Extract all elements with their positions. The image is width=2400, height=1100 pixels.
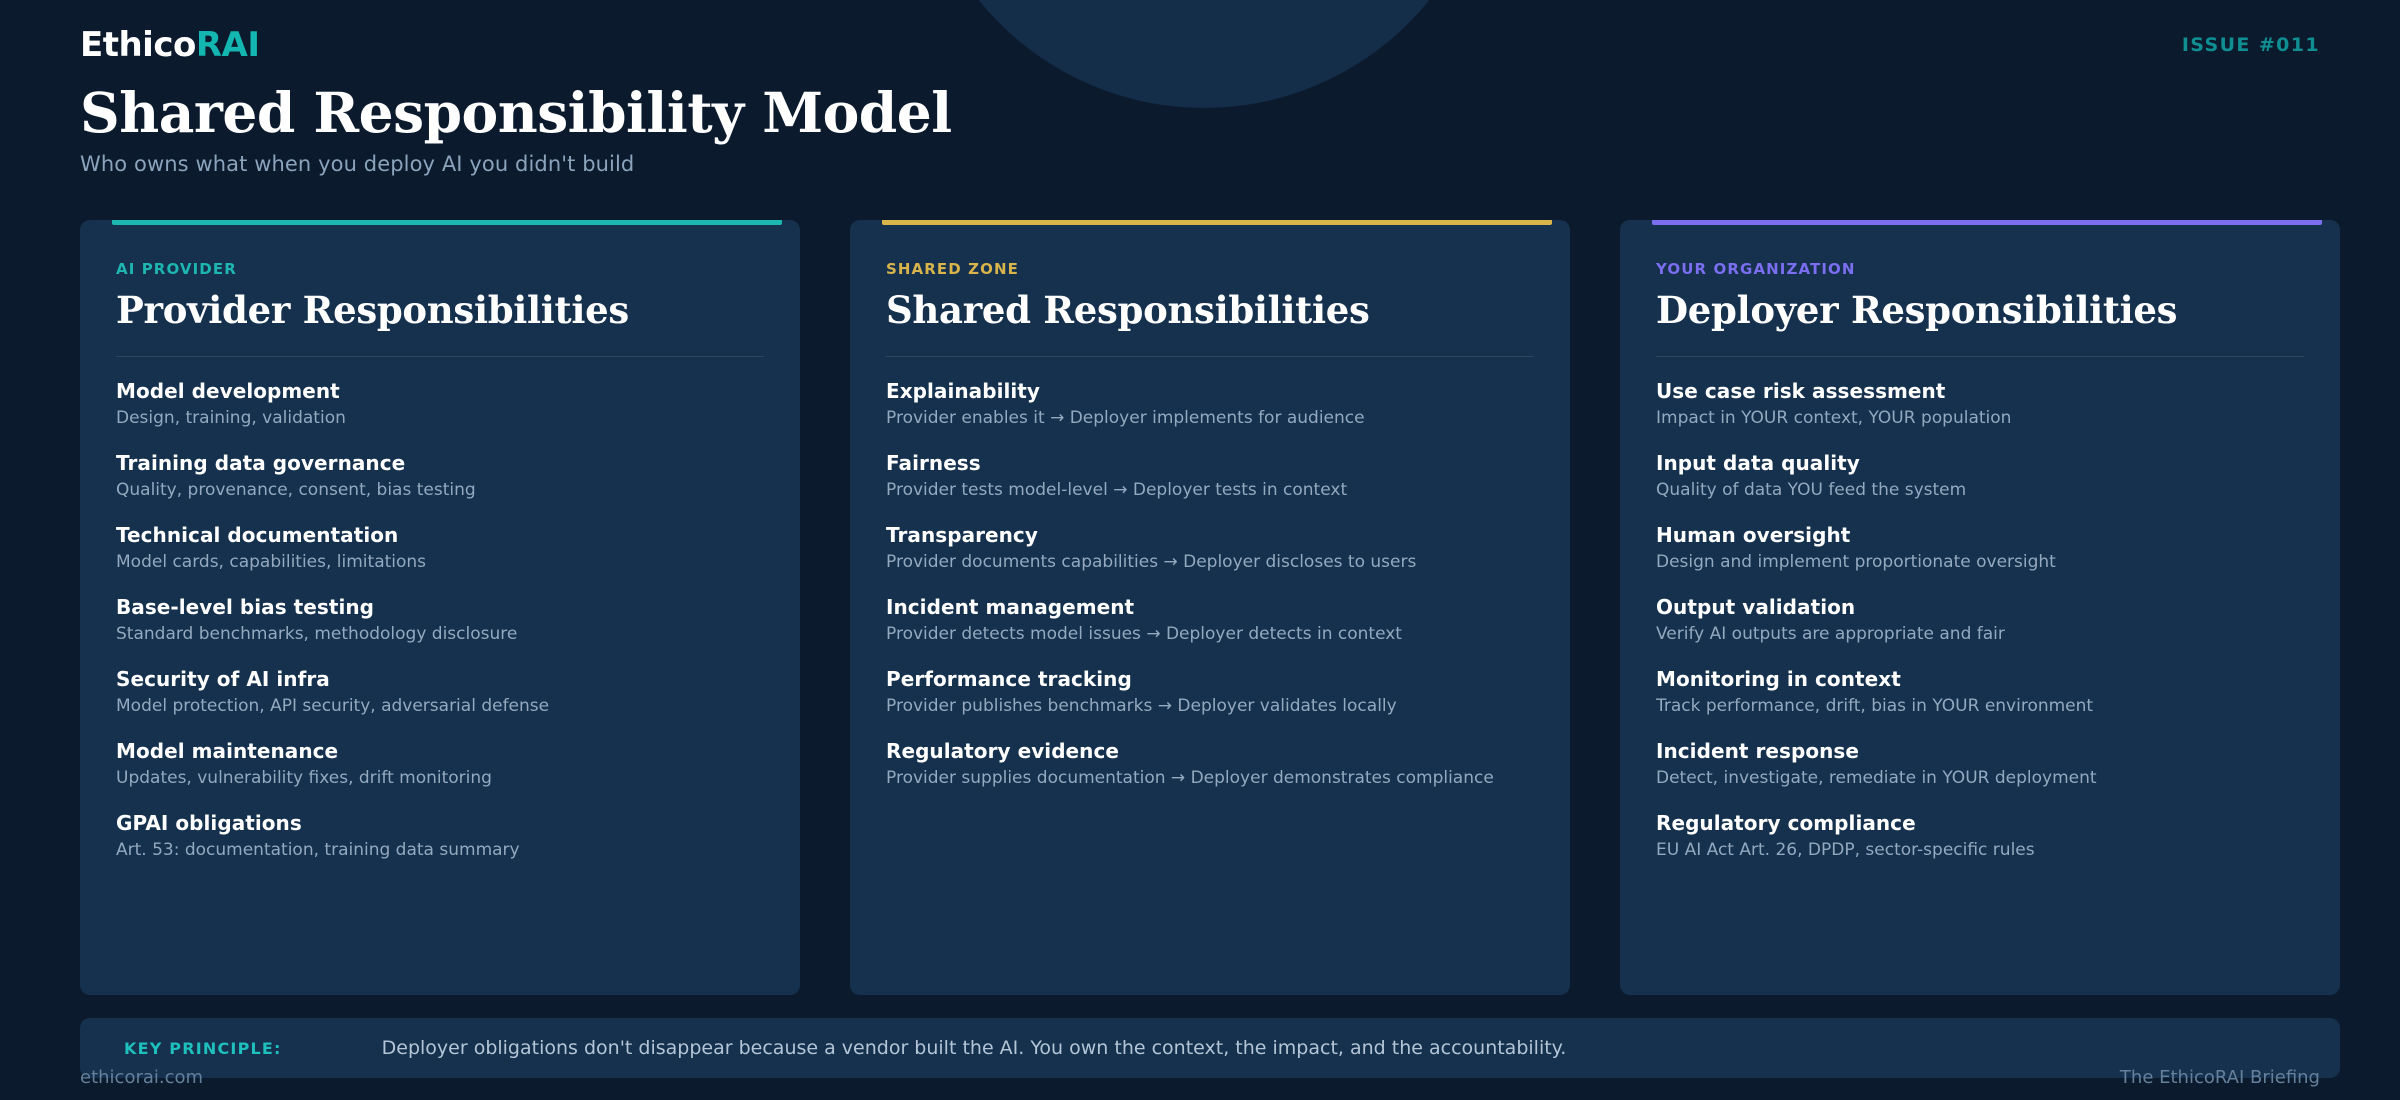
key-principle-label: KEY PRINCIPLE: xyxy=(124,1039,282,1058)
responsibility-item-desc: Impact in YOUR context, YOUR population xyxy=(1656,407,2304,429)
responsibility-card: SHARED ZONEShared ResponsibilitiesExplai… xyxy=(850,220,1570,995)
page-header: EthicoRAI ISSUE #011 Shared Responsibili… xyxy=(80,28,2320,176)
responsibility-item: Model developmentDesign, training, valid… xyxy=(116,379,764,429)
card-kicker: YOUR ORGANIZATION xyxy=(1656,260,2304,278)
responsibility-item-title: Incident management xyxy=(886,595,1534,620)
responsibility-item: Regulatory evidenceProvider supplies doc… xyxy=(886,739,1534,789)
responsibility-item-desc: Model cards, capabilities, limitations xyxy=(116,551,764,573)
card-title: Shared Responsibilities xyxy=(886,290,1534,332)
brand-name-primary: Ethico xyxy=(80,25,196,65)
card-title: Deployer Responsibilities xyxy=(1656,290,2304,332)
responsibility-item-title: Model development xyxy=(116,379,764,404)
responsibility-item-title: Use case risk assessment xyxy=(1656,379,2304,404)
issue-number: ISSUE #011 xyxy=(2182,34,2320,56)
responsibility-item-desc: EU AI Act Art. 26, DPDP, sector-specific… xyxy=(1656,839,2304,861)
responsibility-item-title: Base-level bias testing xyxy=(116,595,764,620)
card-accent-bar xyxy=(882,220,1552,225)
responsibility-item: GPAI obligationsArt. 53: documentation, … xyxy=(116,811,764,861)
responsibility-item: Regulatory complianceEU AI Act Art. 26, … xyxy=(1656,811,2304,861)
responsibility-item: ExplainabilityProvider enables it → Depl… xyxy=(886,379,1534,429)
card-divider xyxy=(116,356,764,357)
card-accent-bar xyxy=(1652,220,2322,225)
responsibility-item: FairnessProvider tests model-level → Dep… xyxy=(886,451,1534,501)
responsibility-item: Model maintenanceUpdates, vulnerability … xyxy=(116,739,764,789)
responsibility-item: Performance trackingProvider publishes b… xyxy=(886,667,1534,717)
responsibility-item-title: Model maintenance xyxy=(116,739,764,764)
responsibility-item-title: Incident response xyxy=(1656,739,2304,764)
responsibility-item: Incident responseDetect, investigate, re… xyxy=(1656,739,2304,789)
page-subtitle: Who owns what when you deploy AI you did… xyxy=(80,152,2320,176)
key-principle-text: Deployer obligations don't disappear bec… xyxy=(382,1037,1567,1059)
responsibility-item-desc: Design, training, validation xyxy=(116,407,764,429)
responsibility-item-title: Transparency xyxy=(886,523,1534,548)
responsibility-item: Incident managementProvider detects mode… xyxy=(886,595,1534,645)
responsibility-item-title: Monitoring in context xyxy=(1656,667,2304,692)
responsibility-item-desc: Model protection, API security, adversar… xyxy=(116,695,764,717)
responsibility-item: Input data qualityQuality of data YOU fe… xyxy=(1656,451,2304,501)
responsibility-item-desc: Provider supplies documentation → Deploy… xyxy=(886,767,1534,789)
responsibility-item-desc: Track performance, drift, bias in YOUR e… xyxy=(1656,695,2304,717)
page-footer: ethicorai.com The EthicoRAI Briefing xyxy=(80,1067,2320,1088)
responsibility-item-title: Human oversight xyxy=(1656,523,2304,548)
responsibility-item-desc: Standard benchmarks, methodology disclos… xyxy=(116,623,764,645)
responsibility-item: Monitoring in contextTrack performance, … xyxy=(1656,667,2304,717)
responsibility-item-title: Explainability xyxy=(886,379,1534,404)
responsibility-cards: AI PROVIDERProvider ResponsibilitiesMode… xyxy=(80,220,2340,995)
responsibility-item: Technical documentationModel cards, capa… xyxy=(116,523,764,573)
responsibility-item-title: GPAI obligations xyxy=(116,811,764,836)
responsibility-item-desc: Updates, vulnerability fixes, drift moni… xyxy=(116,767,764,789)
responsibility-item: TransparencyProvider documents capabilit… xyxy=(886,523,1534,573)
responsibility-item: Human oversightDesign and implement prop… xyxy=(1656,523,2304,573)
responsibility-card: YOUR ORGANIZATIONDeployer Responsibiliti… xyxy=(1620,220,2340,995)
responsibility-item-desc: Provider documents capabilities → Deploy… xyxy=(886,551,1534,573)
brand-logo: EthicoRAI xyxy=(80,28,2320,62)
responsibility-item-desc: Art. 53: documentation, training data su… xyxy=(116,839,764,861)
responsibility-item: Training data governanceQuality, provena… xyxy=(116,451,764,501)
responsibility-item: Output validationVerify AI outputs are a… xyxy=(1656,595,2304,645)
brand-name-accent: RAI xyxy=(196,25,260,65)
responsibility-item: Base-level bias testingStandard benchmar… xyxy=(116,595,764,645)
responsibility-item-title: Performance tracking xyxy=(886,667,1534,692)
responsibility-item-title: Output validation xyxy=(1656,595,2304,620)
responsibility-item-desc: Provider enables it → Deployer implement… xyxy=(886,407,1534,429)
responsibility-item-desc: Provider publishes benchmarks → Deployer… xyxy=(886,695,1534,717)
card-divider xyxy=(1656,356,2304,357)
responsibility-item-title: Training data governance xyxy=(116,451,764,476)
card-accent-bar xyxy=(112,220,782,225)
responsibility-item-title: Input data quality xyxy=(1656,451,2304,476)
responsibility-item-title: Security of AI infra xyxy=(116,667,764,692)
responsibility-item-desc: Detect, investigate, remediate in YOUR d… xyxy=(1656,767,2304,789)
card-kicker: SHARED ZONE xyxy=(886,260,1534,278)
footer-publication: The EthicoRAI Briefing xyxy=(2120,1067,2320,1088)
responsibility-item-desc: Design and implement proportionate overs… xyxy=(1656,551,2304,573)
page-title: Shared Responsibility Model xyxy=(80,84,2320,142)
card-title: Provider Responsibilities xyxy=(116,290,764,332)
responsibility-item-desc: Quality of data YOU feed the system xyxy=(1656,479,2304,501)
responsibility-item: Use case risk assessmentImpact in YOUR c… xyxy=(1656,379,2304,429)
responsibility-item-title: Technical documentation xyxy=(116,523,764,548)
footer-website: ethicorai.com xyxy=(80,1067,203,1088)
responsibility-item: Security of AI infraModel protection, AP… xyxy=(116,667,764,717)
responsibility-item-desc: Quality, provenance, consent, bias testi… xyxy=(116,479,764,501)
responsibility-item-desc: Provider detects model issues → Deployer… xyxy=(886,623,1534,645)
responsibility-item-desc: Provider tests model-level → Deployer te… xyxy=(886,479,1534,501)
card-kicker: AI PROVIDER xyxy=(116,260,764,278)
card-divider xyxy=(886,356,1534,357)
responsibility-item-title: Regulatory compliance xyxy=(1656,811,2304,836)
responsibility-item-title: Fairness xyxy=(886,451,1534,476)
responsibility-card: AI PROVIDERProvider ResponsibilitiesMode… xyxy=(80,220,800,995)
responsibility-item-desc: Verify AI outputs are appropriate and fa… xyxy=(1656,623,2304,645)
infographic-page: EthicoRAI ISSUE #011 Shared Responsibili… xyxy=(0,0,2400,1100)
responsibility-item-title: Regulatory evidence xyxy=(886,739,1534,764)
